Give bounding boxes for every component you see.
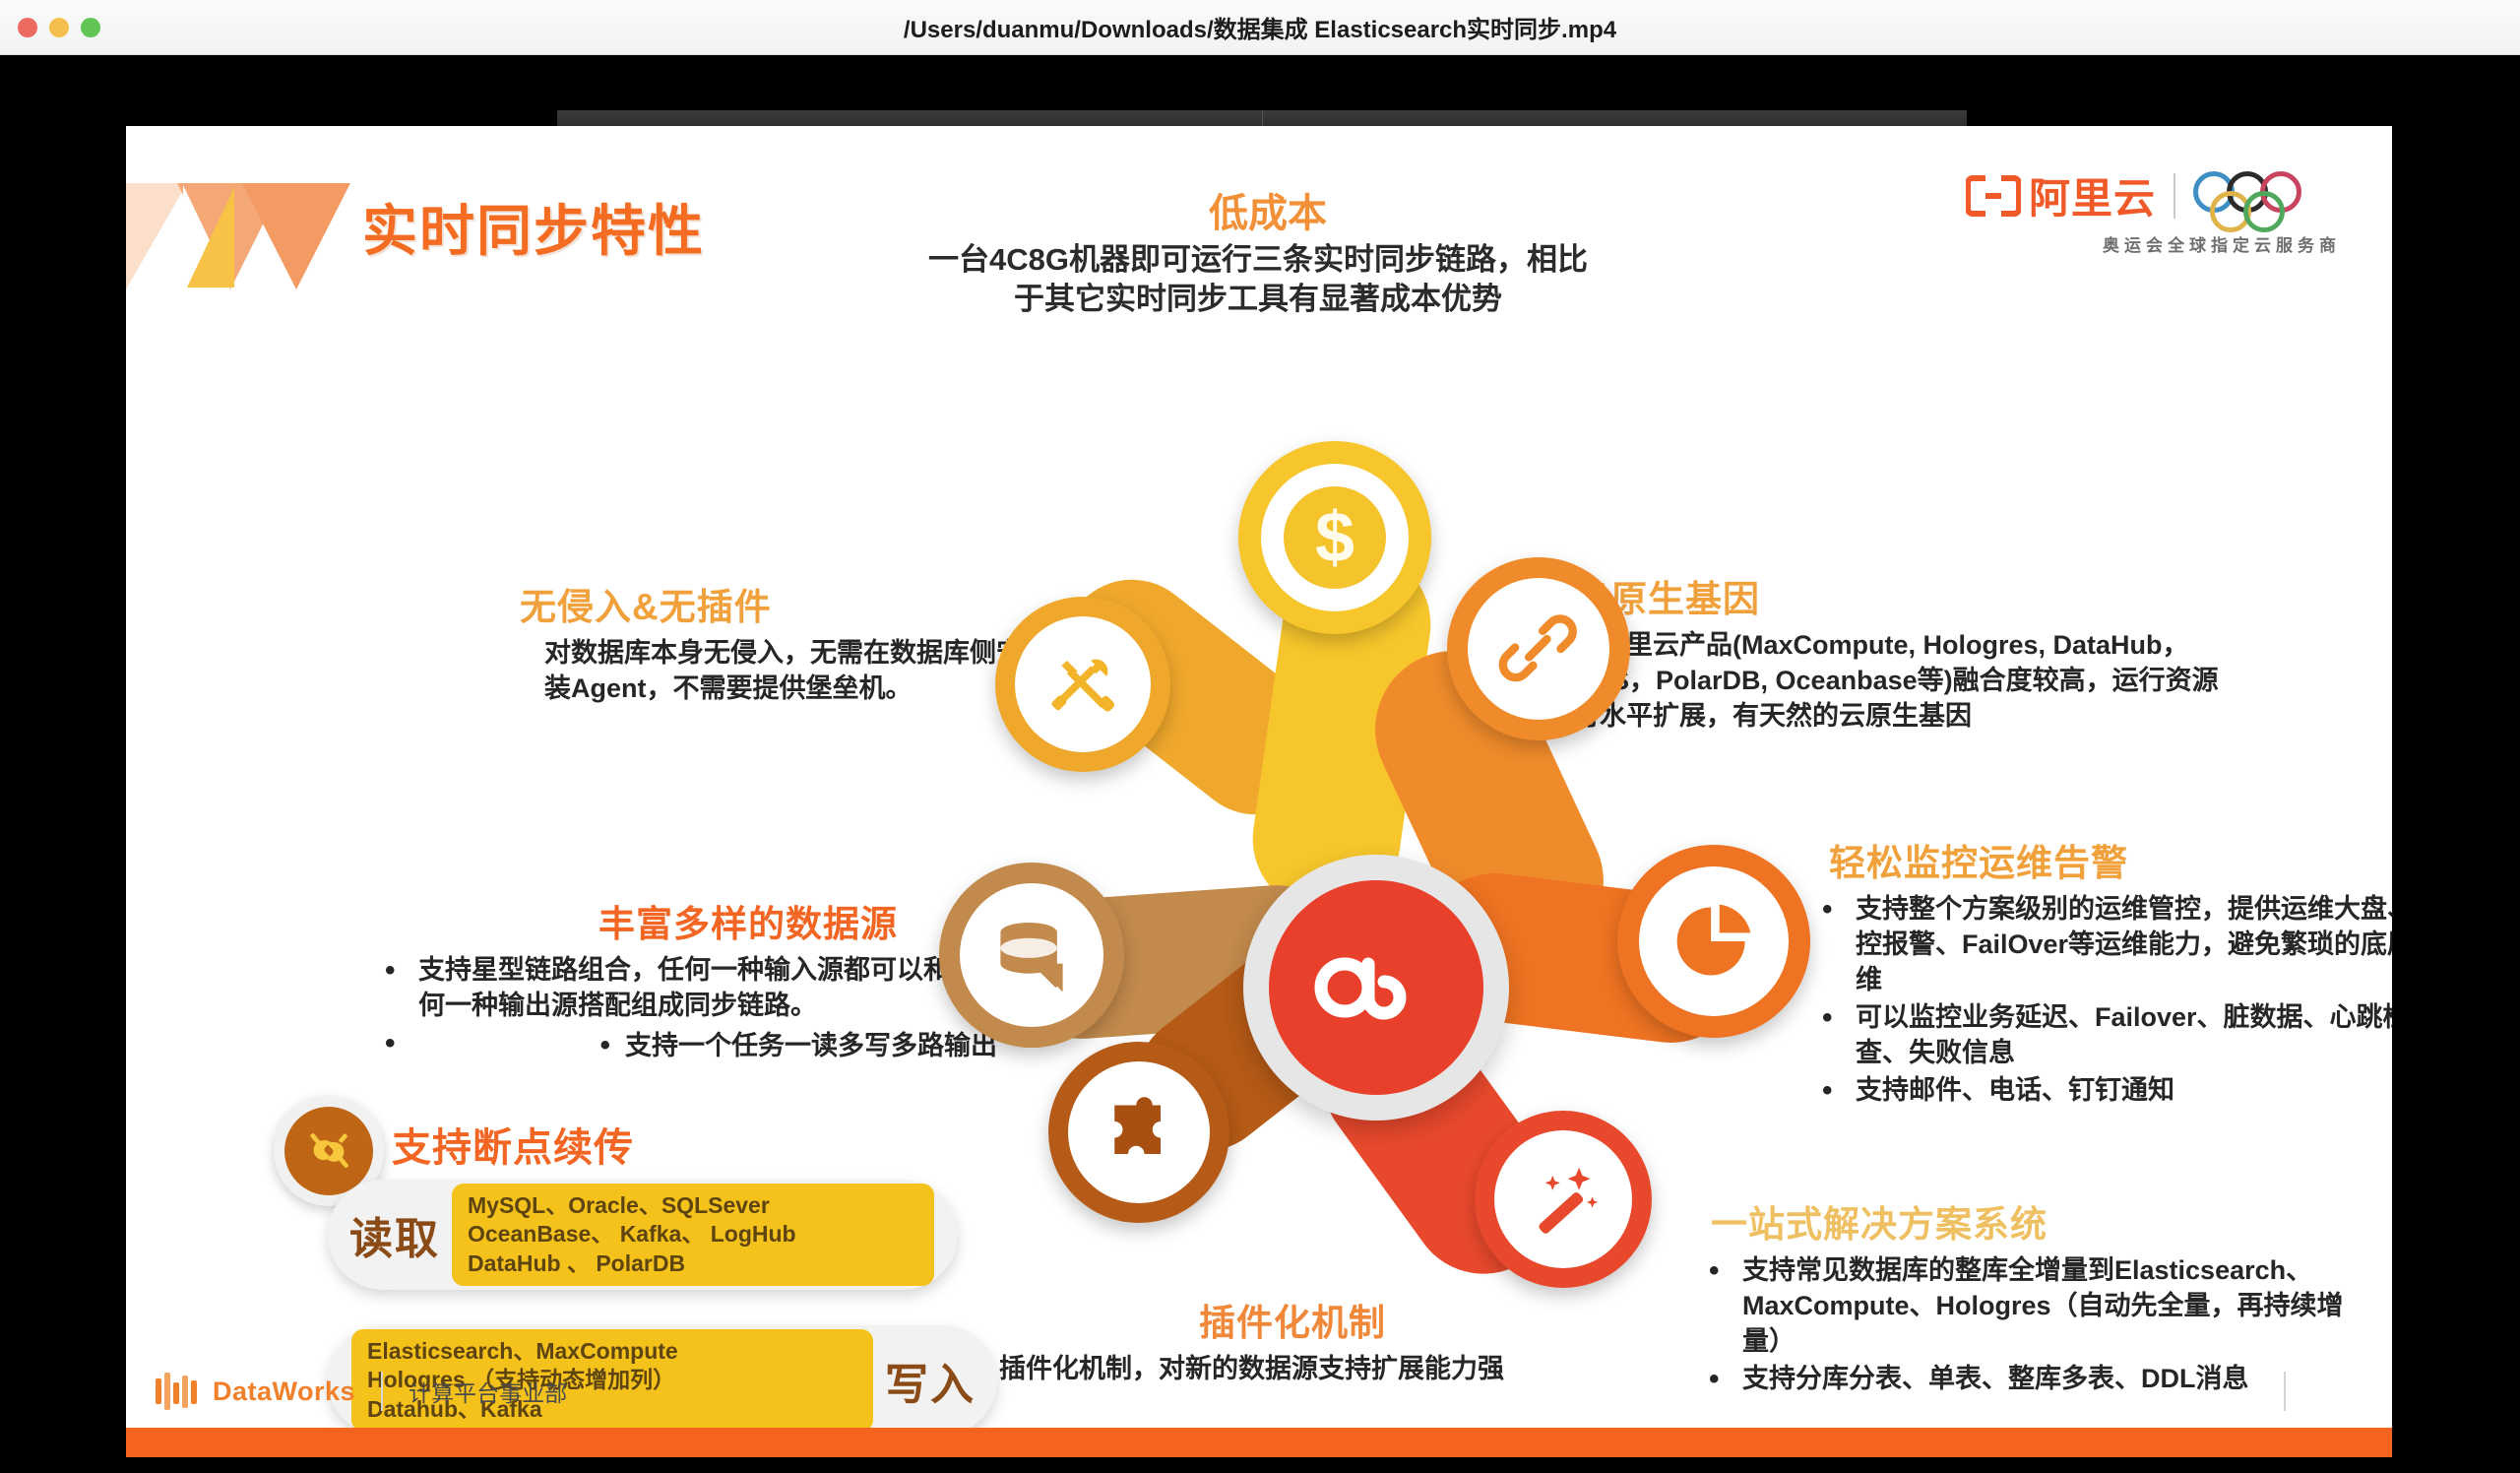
page-title: 实时同步特性 (362, 187, 705, 267)
brand-divider (2173, 173, 2175, 219)
window-title: /Users/duanmu/Downloads/数据集成 Elasticsear… (0, 10, 2520, 44)
low-cost-body: 一台4C8G机器即可运行三条实时同步链路，相比 于其它实时同步工具有显著成本优势 (736, 240, 1780, 318)
database-icon (986, 910, 1077, 1000)
read-label: 读取 (349, 1203, 440, 1266)
pie-chart-icon (1669, 896, 1759, 987)
dollar-icon: $ (1284, 486, 1386, 589)
alicloud-logo: 阿里云 (1966, 165, 2156, 225)
monitor-bullet: 支持整个方案级别的运维管控，提供运维大盘、监控报警、FailOver等运维能力，… (1814, 892, 2392, 998)
monitor-bullet: 支持邮件、电话、钉钉通知 (1814, 1073, 2392, 1109)
low-cost-heading: 低成本 (992, 181, 1543, 238)
tools-icon (1040, 642, 1125, 727)
olympic-rings-icon (2193, 169, 2341, 223)
node-magic[interactable] (1475, 1111, 1652, 1288)
footer-accent-bar (126, 1428, 2392, 1457)
dataworks-mark-icon (154, 1371, 199, 1412)
monitor-bullet: 可以监控业务延迟、Failover、脏数据、心跳检查、失败信息 (1814, 1000, 2392, 1071)
infinity-loop-icon (1307, 940, 1445, 1035)
broken-link-glyph (300, 1122, 357, 1180)
low-cost-line-1: 一台4C8G机器即可运行三条实时同步链路，相比 (736, 240, 1780, 280)
footer-divider (381, 1372, 383, 1411)
alicloud-name: 阿里云 (2029, 165, 2156, 225)
no-invade-heading: 无侵入&无插件 (520, 577, 772, 630)
hub-center[interactable] (1243, 855, 1509, 1121)
hub-core[interactable] (1269, 880, 1483, 1095)
hub-diagram: $ (874, 431, 1878, 1347)
magic-wand-icon (1521, 1157, 1606, 1242)
alibaba-cloud-brand: 阿里云 奥运会全球指定云服务商 (1947, 165, 2341, 256)
footer-right-divider (2284, 1372, 2286, 1411)
node-puzzle[interactable] (1048, 1042, 1229, 1223)
presentation-slide: 实时同步特性 阿里云 (126, 126, 2392, 1457)
low-cost-line-2: 于其它实时同步工具有显著成本优势 (736, 280, 1780, 319)
slide-footer: DataWorks 计算平台事业部 (126, 1361, 2392, 1422)
footer-department: 计算平台事业部 (409, 1375, 567, 1408)
decorative-triangles (126, 183, 335, 291)
data-source-heading: 丰富多样的数据源 (598, 894, 898, 947)
node-dollar[interactable]: $ (1238, 441, 1431, 634)
puzzle-icon (1096, 1089, 1182, 1176)
node-database[interactable] (939, 863, 1124, 1048)
window-titlebar: /Users/duanmu/Downloads/数据集成 Elasticsear… (0, 0, 2520, 55)
read-sources-pill: 读取 MySQL、Oracle、SQLSever OceanBase、 Kafk… (328, 1180, 958, 1290)
broken-link-icon (284, 1107, 373, 1195)
video-player-window: /Users/duanmu/Downloads/数据集成 Elasticsear… (0, 0, 2520, 1473)
link-icon (1494, 605, 1583, 693)
video-stage[interactable]: 实时同步特性 阿里云 (0, 55, 2520, 1473)
dataworks-logo: DataWorks (154, 1371, 355, 1412)
dataworks-name: DataWorks (213, 1377, 355, 1407)
monitor-body: 支持整个方案级别的运维管控，提供运维大盘、监控报警、FailOver等运维能力，… (1814, 892, 2392, 1110)
brand-subtitle: 奥运会全球指定云服务商 (1947, 231, 2341, 256)
node-tools[interactable] (995, 597, 1170, 772)
node-pie[interactable] (1617, 845, 1810, 1038)
read-items: MySQL、Oracle、SQLSever OceanBase、 Kafka、 … (452, 1184, 934, 1286)
resume-heading: 支持断点续传 (392, 1116, 634, 1173)
alicloud-mark-icon (1966, 175, 2021, 217)
node-link[interactable] (1447, 557, 1630, 740)
